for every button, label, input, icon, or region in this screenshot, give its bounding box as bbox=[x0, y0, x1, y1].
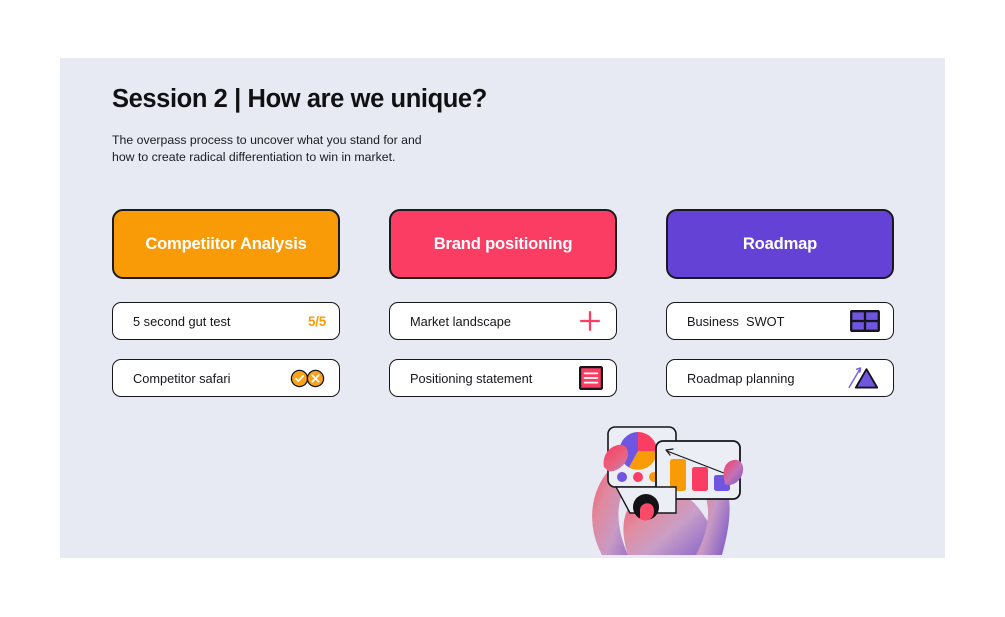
list-item-5-second-gut-test[interactable]: 5 second gut test 5/5 bbox=[112, 302, 340, 340]
page-subtitle: The overpass process to uncover what you… bbox=[112, 132, 422, 165]
column-brand-positioning: Brand positioning Market landscape Posit… bbox=[389, 209, 617, 397]
list-item-competitor-safari[interactable]: Competitor safari bbox=[112, 359, 340, 397]
list-item-label: Business SWOT bbox=[687, 314, 784, 329]
header-card-label: Roadmap bbox=[743, 234, 817, 254]
header-card-competitor-analysis[interactable]: Competiitor Analysis bbox=[112, 209, 340, 279]
plus-icon bbox=[577, 308, 603, 334]
page-title: Session 2 | How are we unique? bbox=[112, 85, 487, 114]
column-roadmap: Roadmap Business SWOT Roadmap planning bbox=[666, 209, 894, 397]
list-lines-icon bbox=[579, 366, 603, 390]
list-item-label: Market landscape bbox=[410, 314, 511, 329]
header-card-label: Competiitor Analysis bbox=[145, 234, 306, 254]
list-item-label: Positioning statement bbox=[410, 371, 532, 386]
header-card-roadmap[interactable]: Roadmap bbox=[666, 209, 894, 279]
hand-holding-dashboard-illustration bbox=[572, 413, 762, 558]
list-item-trailing: 5/5 bbox=[308, 314, 326, 329]
list-item-label: Competitor safari bbox=[133, 371, 230, 386]
triangle-growth-arrow-icon bbox=[846, 365, 880, 391]
score-badge: 5/5 bbox=[308, 314, 326, 329]
list-item-market-landscape[interactable]: Market landscape bbox=[389, 302, 617, 340]
header-card-label: Brand positioning bbox=[434, 234, 573, 254]
list-item-label: 5 second gut test bbox=[133, 314, 230, 329]
header-card-brand-positioning[interactable]: Brand positioning bbox=[389, 209, 617, 279]
column-competitor-analysis: Competiitor Analysis 5 second gut test 5… bbox=[112, 209, 340, 397]
list-item-label: Roadmap planning bbox=[687, 371, 794, 386]
grid-2x2-icon bbox=[850, 310, 880, 332]
list-item-roadmap-planning[interactable]: Roadmap planning bbox=[666, 359, 894, 397]
list-item-business-swot[interactable]: Business SWOT bbox=[666, 302, 894, 340]
list-item-positioning-statement[interactable]: Positioning statement bbox=[389, 359, 617, 397]
check-and-cross-circles-icon bbox=[290, 369, 326, 388]
slide-panel: Session 2 | How are we unique? The overp… bbox=[60, 58, 945, 558]
